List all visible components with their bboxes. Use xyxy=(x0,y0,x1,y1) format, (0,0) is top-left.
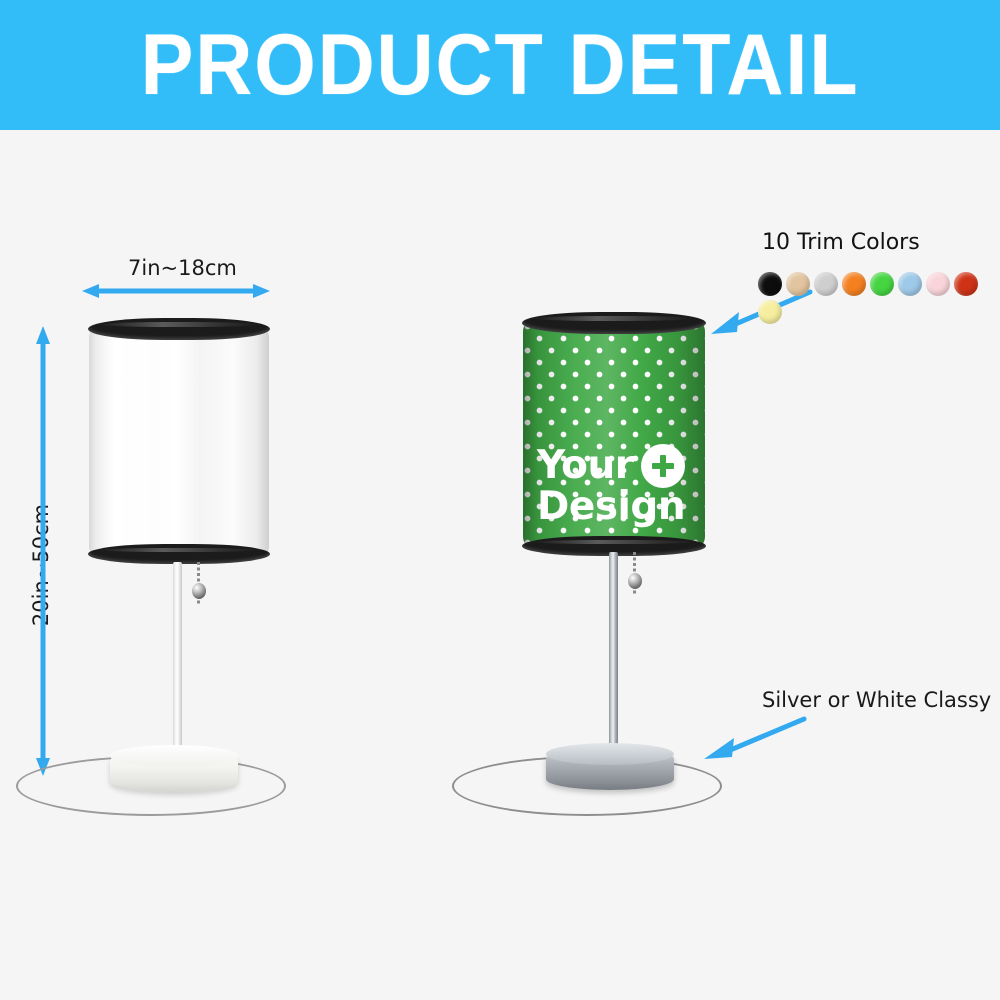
white-shade-top-trim xyxy=(88,318,270,340)
shade-artwork-text-design: Design xyxy=(537,488,685,526)
green-lamp-base-top xyxy=(546,743,674,765)
swatch-light-blue[interactable] xyxy=(898,272,922,296)
shade-artwork-line1: Your xyxy=(537,444,685,488)
green-lamp-chain-bead[interactable] xyxy=(628,573,642,589)
width-dimension-label: 7in~18cm xyxy=(128,256,237,280)
trim-highlight xyxy=(533,316,695,321)
page-title: PRODUCT DETAIL xyxy=(40,0,960,130)
trim-color-swatch-grid xyxy=(758,272,998,324)
shade-artwork-text-your: Your xyxy=(537,447,633,485)
width-dimension-arrow xyxy=(82,282,270,300)
trim-highlight xyxy=(99,548,259,552)
green-shade-surface: Your Design xyxy=(523,322,705,546)
plus-icon xyxy=(641,444,685,488)
header-banner: PRODUCT DETAIL xyxy=(0,0,1000,130)
height-dimension-arrow xyxy=(34,326,52,776)
base-finish-label: Silver or White Classy xyxy=(762,688,991,712)
green-lamp-pole xyxy=(609,552,618,752)
swatch-black[interactable] xyxy=(758,272,782,296)
trim-colors-title: 10 Trim Colors xyxy=(762,230,920,255)
white-lamp-pole xyxy=(173,562,182,762)
swatch-pink[interactable] xyxy=(926,272,950,296)
swatch-light-gray[interactable] xyxy=(814,272,838,296)
swatch-tan[interactable] xyxy=(786,272,810,296)
white-lamp-chain-bead[interactable] xyxy=(192,583,206,599)
trim-highlight xyxy=(99,322,259,327)
white-shade-surface xyxy=(89,328,269,556)
green-lamp-shade: Your Design xyxy=(522,312,706,556)
swatch-green[interactable] xyxy=(870,272,894,296)
swatch-yellow[interactable] xyxy=(758,300,782,324)
base-finish-pointer-arrow xyxy=(698,715,808,763)
trim-highlight xyxy=(533,540,695,544)
white-lamp-base-top xyxy=(110,745,238,767)
swatch-red[interactable] xyxy=(954,272,978,296)
shade-artwork-line2: Design xyxy=(537,488,685,526)
shade-artwork: Your Design xyxy=(537,444,685,526)
white-shade-bottom-trim xyxy=(88,544,270,564)
swatch-orange[interactable] xyxy=(842,272,866,296)
white-lamp-shade xyxy=(88,318,270,566)
green-shade-top-trim xyxy=(522,312,706,334)
product-detail-page: PRODUCT DETAIL 7in~18cm 20in~50cm xyxy=(0,0,1000,1000)
